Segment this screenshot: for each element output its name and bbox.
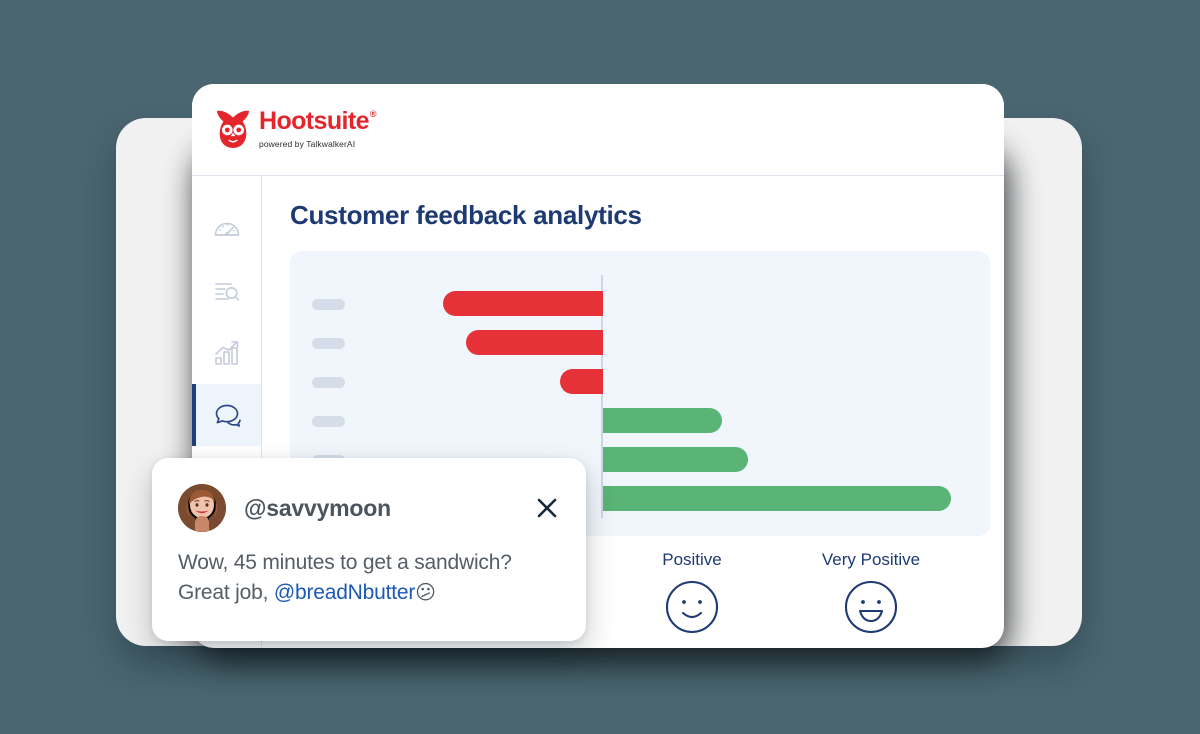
tweet-popup-card: @savvymoon Wow, 45 minutes to get a sand… (152, 458, 586, 641)
sidebar-item-analytics[interactable] (192, 322, 261, 384)
chart-bar-positive[interactable] (603, 486, 951, 511)
composition-stage: Hootsuite ® powered by TalkwalkerAI (0, 0, 1200, 734)
logo-word-text: Hootsuite (259, 109, 369, 134)
logo-registered-mark: ® (370, 110, 376, 119)
chart-bar-positive[interactable] (603, 408, 722, 433)
chart-row (290, 369, 990, 394)
logo-tagline: powered by TalkwalkerAI (259, 139, 355, 149)
chart-row-label-placeholder (312, 338, 345, 349)
chart-row (290, 408, 990, 433)
sentiment-item-very-positive[interactable]: Very Positive (801, 550, 941, 641)
sentiment-item-positive[interactable]: Positive (622, 550, 762, 641)
logo-text-block: Hootsuite ® powered by TalkwalkerAI (259, 108, 376, 152)
tweet-mention-link[interactable]: @breadNbutter (274, 581, 415, 604)
smiley-slight-smile-icon (663, 578, 721, 636)
smiley-grin-icon (842, 578, 900, 636)
logo-wordmark: Hootsuite ® (259, 109, 376, 134)
chart-row (290, 291, 990, 316)
gauge-icon (212, 214, 242, 244)
list-search-icon (212, 276, 242, 306)
sentiment-label: Very Positive (801, 550, 941, 570)
app-header: Hootsuite ® powered by TalkwalkerAI (192, 84, 1004, 176)
avatar (178, 484, 226, 532)
sidebar-item-search[interactable] (192, 260, 261, 322)
chart-row-label-placeholder (312, 299, 345, 310)
speech-bubbles-icon (212, 400, 242, 430)
chart-bar-negative[interactable] (443, 291, 603, 316)
chart-bar-negative[interactable] (466, 330, 603, 355)
bar-chart-trend-icon (212, 338, 242, 368)
owl-logo-icon (214, 109, 252, 149)
chart-bar-positive[interactable] (603, 447, 748, 472)
chart-bar-negative[interactable] (560, 369, 603, 394)
sidebar-item-dashboard[interactable] (192, 198, 261, 260)
chart-row-label-placeholder (312, 416, 345, 427)
tweet-body: Wow, 45 minutes to get a sandwich? Great… (178, 548, 560, 608)
tweet-handle: @savvymoon (244, 495, 391, 522)
tweet-emoji: 😕 (415, 582, 436, 604)
tweet-text-line-1: Wow, 45 minutes to get a sandwich? (178, 551, 512, 574)
sentiment-label: Positive (622, 550, 762, 570)
tweet-header: @savvymoon (178, 484, 560, 532)
tweet-text-before-mention: Great job, (178, 581, 274, 604)
page-title: Customer feedback analytics (290, 200, 990, 231)
sidebar-item-conversations[interactable] (192, 384, 261, 446)
chart-row (290, 330, 990, 355)
close-icon[interactable] (534, 495, 560, 521)
hootsuite-logo[interactable]: Hootsuite ® powered by TalkwalkerAI (214, 108, 376, 152)
chart-row-label-placeholder (312, 377, 345, 388)
